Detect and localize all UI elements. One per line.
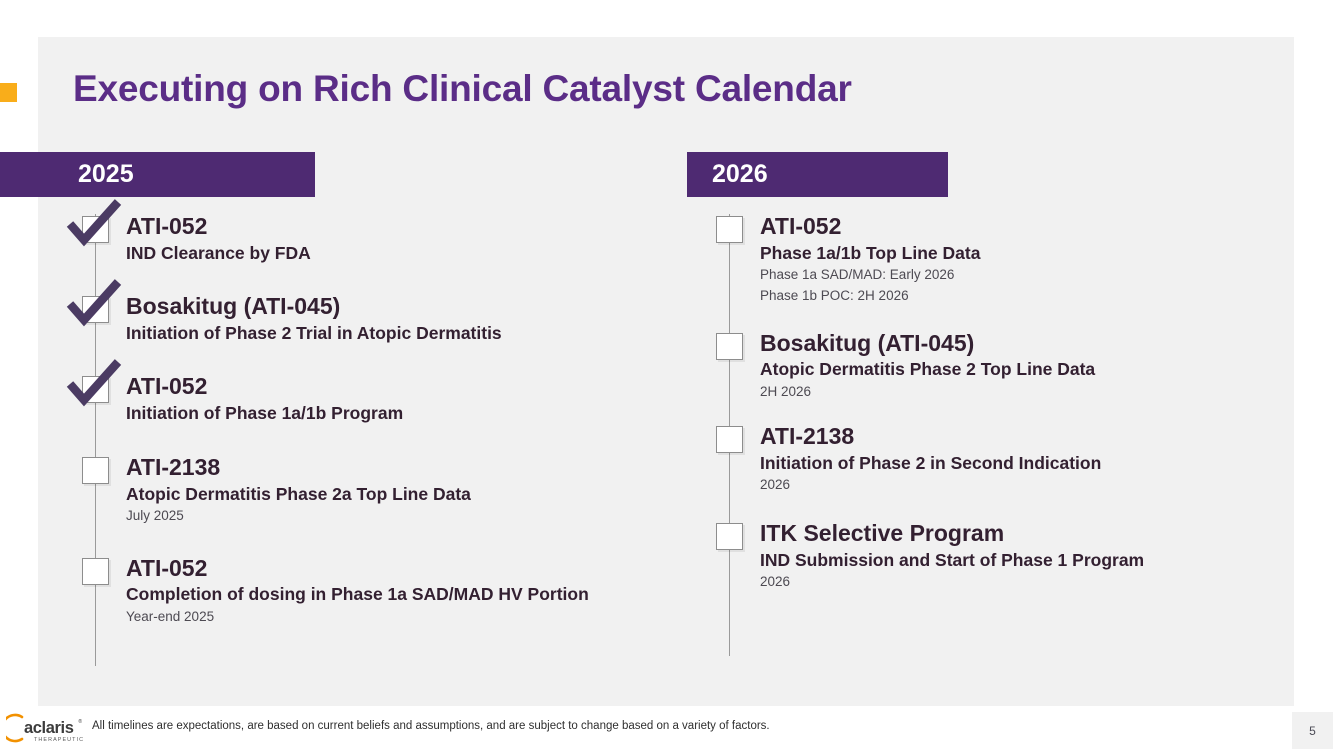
timeline-item-title: ATI-052 (760, 214, 1252, 239)
page-number: 5 (1292, 712, 1333, 749)
timeline-item[interactable]: ATI-052Phase 1a/1b Top Line DataPhase 1a… (712, 214, 1252, 305)
timeline-item-subtitle: Phase 1a/1b Top Line Data (760, 243, 1252, 263)
checkbox-box (82, 457, 109, 484)
year-label-2025: 2025 (78, 160, 134, 189)
timeline-item-title: ATI-052 (126, 556, 678, 581)
page-number-value: 5 (1309, 724, 1316, 738)
timeline-column-2025: ATI-052IND Clearance by FDABosakitug (AT… (78, 214, 678, 625)
timeline-item[interactable]: ATI-052Completion of dosing in Phase 1a … (78, 556, 678, 626)
year-banner-2025: 2025 (0, 152, 315, 197)
timeline-item-subtitle: IND Submission and Start of Phase 1 Prog… (760, 550, 1252, 570)
timeline-item-detail: Phase 1a SAD/MAD: Early 2026 (760, 266, 1252, 284)
timeline-item-detail: 2026 (760, 476, 1252, 494)
timeline-item[interactable]: ITK Selective ProgramIND Submission and … (712, 521, 1252, 591)
checkbox-unchecked[interactable] (82, 457, 109, 484)
timeline-item[interactable]: ATI-2138Atopic Dermatitis Phase 2a Top L… (78, 455, 678, 525)
svg-text:aclaris: aclaris (24, 719, 74, 737)
timeline-item[interactable]: Bosakitug (ATI-045)Initiation of Phase 2… (78, 294, 678, 343)
timeline-item-detail: Year-end 2025 (126, 608, 678, 626)
checkbox-unchecked[interactable] (716, 333, 743, 360)
checkbox-unchecked[interactable] (716, 216, 743, 243)
timeline-item-title: ATI-2138 (760, 424, 1252, 449)
timeline-item-detail: Phase 1b POC: 2H 2026 (760, 287, 1252, 305)
svg-text:®: ® (78, 718, 82, 725)
timeline-item-subtitle: Completion of dosing in Phase 1a SAD/MAD… (126, 584, 678, 604)
checkbox-box (716, 426, 743, 453)
timeline-item[interactable]: ATI-052Initiation of Phase 1a/1b Program (78, 374, 678, 423)
timeline-item-detail: 2H 2026 (760, 383, 1252, 401)
checkbox-unchecked[interactable] (716, 523, 743, 550)
checkmark-icon (68, 280, 120, 326)
timeline-item-subtitle: Atopic Dermatitis Phase 2a Top Line Data (126, 484, 678, 504)
checkbox-box (82, 558, 109, 585)
disclaimer-text: All timelines are expectations, are base… (92, 720, 770, 732)
checkbox-checked[interactable] (82, 296, 109, 323)
orange-accent-square (0, 83, 17, 102)
aclaris-logo: aclaris ® THERAPEUTICS (6, 711, 84, 745)
checkbox-box (716, 333, 743, 360)
timeline-item-subtitle: Initiation of Phase 2 Trial in Atopic De… (126, 323, 678, 343)
timeline-item-title: Bosakitug (ATI-045) (760, 331, 1252, 356)
timeline-item-detail: July 2025 (126, 507, 678, 525)
checkbox-box (716, 216, 743, 243)
checkbox-unchecked[interactable] (716, 426, 743, 453)
checkbox-box (716, 523, 743, 550)
timeline-item-detail: 2026 (760, 573, 1252, 591)
checkmark-icon (68, 200, 120, 246)
timeline-item-title: Bosakitug (ATI-045) (126, 294, 678, 319)
timeline-item-subtitle: Atopic Dermatitis Phase 2 Top Line Data (760, 359, 1252, 379)
timeline-item-subtitle: Initiation of Phase 1a/1b Program (126, 403, 678, 423)
timeline-item-subtitle: Initiation of Phase 2 in Second Indicati… (760, 453, 1252, 473)
timeline-item-title: ATI-2138 (126, 455, 678, 480)
timeline-item-title: ITK Selective Program (760, 521, 1252, 546)
timeline-item[interactable]: Bosakitug (ATI-045)Atopic Dermatitis Pha… (712, 331, 1252, 401)
checkmark-icon (68, 360, 120, 406)
timeline-item[interactable]: ATI-052IND Clearance by FDA (78, 214, 678, 263)
checkbox-checked[interactable] (82, 216, 109, 243)
timeline-column-2026: ATI-052Phase 1a/1b Top Line DataPhase 1a… (712, 214, 1252, 591)
year-label-2026: 2026 (712, 160, 768, 189)
timeline-item[interactable]: ATI-2138Initiation of Phase 2 in Second … (712, 424, 1252, 494)
year-banner-2026: 2026 (687, 152, 948, 197)
timeline-item-title: ATI-052 (126, 374, 678, 399)
checkbox-unchecked[interactable] (82, 558, 109, 585)
timeline-item-subtitle: IND Clearance by FDA (126, 243, 678, 263)
checkbox-checked[interactable] (82, 376, 109, 403)
timeline-item-title: ATI-052 (126, 214, 678, 239)
page-title: Executing on Rich Clinical Catalyst Cale… (73, 68, 852, 110)
svg-text:THERAPEUTICS: THERAPEUTICS (34, 737, 84, 743)
